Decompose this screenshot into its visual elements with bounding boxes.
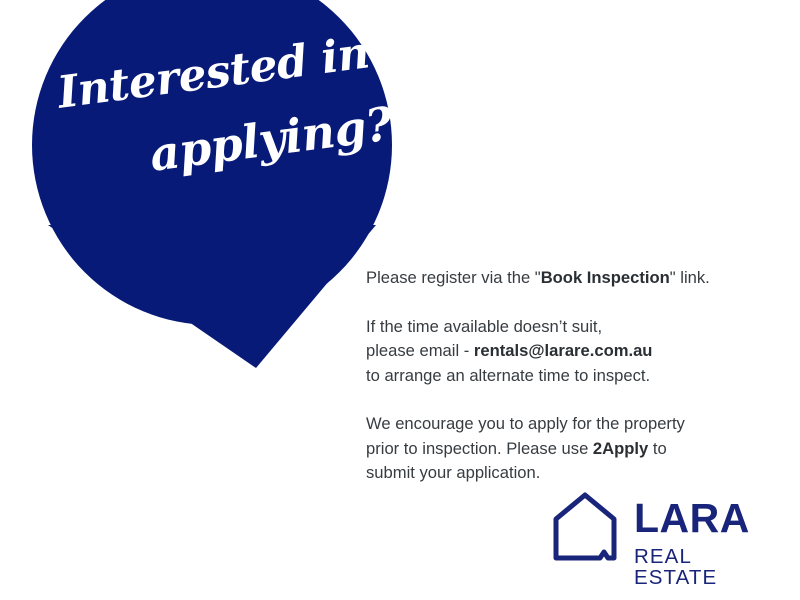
pin-shape-composite — [32, 0, 392, 368]
logo-word-lara: LARA — [634, 498, 766, 539]
pin-graphic — [0, 0, 420, 380]
logo-subtitle-real-estate: REAL ESTATE — [634, 547, 766, 588]
poster-canvas: Interested in applying? Please register … — [0, 0, 800, 600]
house-outline-path — [556, 495, 614, 558]
logo-wordmark: LARA REAL ESTATE — [634, 492, 766, 588]
paragraph-2-line-1: If the time available doesn’t suit, — [366, 315, 766, 340]
paragraph-3: We encourage you to apply for the proper… — [366, 412, 766, 486]
paragraph-3-line-3: submit your application. — [366, 461, 766, 486]
paragraph-2-line-3: to arrange an alternate time to inspect. — [366, 364, 766, 389]
paragraph-3-line-1: We encourage you to apply for the proper… — [366, 412, 766, 437]
pin-point — [48, 225, 376, 368]
emphasis-text: 2Apply — [593, 439, 648, 458]
paragraph-2: If the time available doesn’t suit,pleas… — [366, 315, 766, 389]
paragraph-3-line-2: prior to inspection. Please use 2Apply t… — [366, 437, 766, 462]
paragraph-1: Please register via the "Book Inspection… — [366, 266, 766, 291]
paragraph-1-line-1: Please register via the "Book Inspection… — [366, 266, 766, 291]
house-outline-icon — [552, 492, 618, 562]
emphasis-text: rentals@larare.com.au — [474, 341, 653, 360]
paragraph-2-line-2: please email - rentals@larare.com.au — [366, 339, 766, 364]
instructions-text-block: Please register via the "Book Inspection… — [366, 266, 766, 486]
pin-shape-svg — [0, 0, 420, 380]
lara-real-estate-logo: LARA REAL ESTATE — [552, 492, 766, 566]
emphasis-text: Book Inspection — [541, 268, 670, 287]
